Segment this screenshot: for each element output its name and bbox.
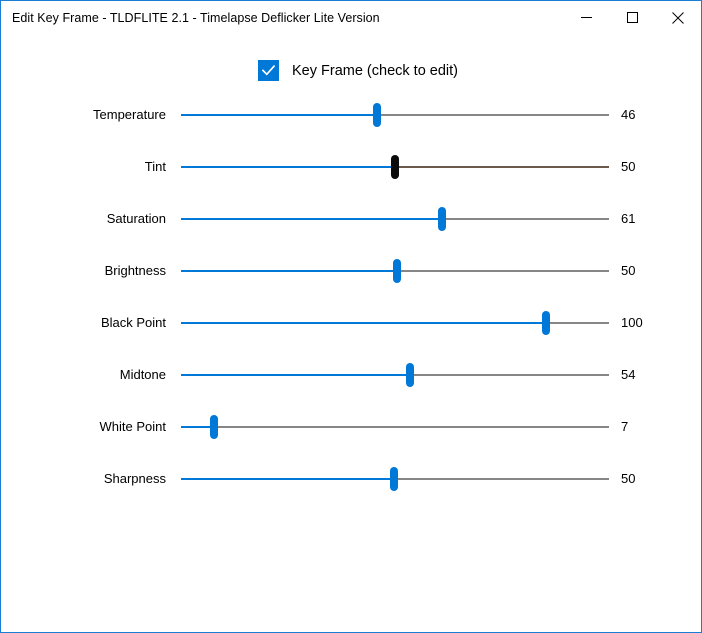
caption-button-group [563, 1, 701, 34]
close-button[interactable] [655, 1, 701, 34]
slider-track-fill [181, 114, 377, 116]
slider-track-fill [181, 374, 410, 376]
window-title: Edit Key Frame - TLDFLITE 2.1 - Timelaps… [1, 11, 380, 25]
slider-value: 100 [621, 308, 643, 338]
slider-value: 54 [621, 360, 635, 390]
maximize-icon [627, 12, 638, 23]
slider-thumb[interactable] [390, 467, 398, 491]
client-area: Key Frame (check to edit) Temperature46T… [1, 34, 701, 632]
slider-track-fill [181, 478, 394, 480]
minimize-icon [581, 12, 592, 23]
slider-track-fill [181, 270, 397, 272]
slider-track-fill [181, 322, 546, 324]
slider-row[interactable]: White Point7 [1, 412, 701, 442]
slider-track-fill [181, 166, 395, 168]
slider-thumb[interactable] [542, 311, 550, 335]
slider-track-fill [181, 218, 442, 220]
slider-value: 50 [621, 152, 635, 182]
slider-black-point[interactable] [181, 308, 609, 338]
slider-row[interactable]: Midtone54 [1, 360, 701, 390]
slider-label: Black Point [1, 308, 166, 338]
close-icon [672, 12, 684, 24]
slider-row[interactable]: Temperature46 [1, 100, 701, 130]
slider-brightness[interactable] [181, 256, 609, 286]
slider-value: 61 [621, 204, 635, 234]
slider-label: Brightness [1, 256, 166, 286]
slider-row[interactable]: Sharpness50 [1, 464, 701, 494]
maximize-button[interactable] [609, 1, 655, 34]
slider-row[interactable]: Tint50 [1, 152, 701, 182]
slider-label: Sharpness [1, 464, 166, 494]
slider-value: 46 [621, 100, 635, 130]
key-frame-checkbox[interactable] [258, 60, 279, 81]
slider-white-point[interactable] [181, 412, 609, 442]
slider-row[interactable]: Saturation61 [1, 204, 701, 234]
slider-label: Temperature [1, 100, 166, 130]
slider-row[interactable]: Black Point100 [1, 308, 701, 338]
slider-label: White Point [1, 412, 166, 442]
slider-label: Saturation [1, 204, 166, 234]
key-frame-checkbox-label: Key Frame (check to edit) [292, 63, 458, 79]
slider-thumb[interactable] [438, 207, 446, 231]
app-window: Edit Key Frame - TLDFLITE 2.1 - Timelaps… [0, 0, 702, 633]
slider-value: 50 [621, 256, 635, 286]
slider-saturation[interactable] [181, 204, 609, 234]
slider-midtone[interactable] [181, 360, 609, 390]
slider-row[interactable]: Brightness50 [1, 256, 701, 286]
key-frame-checkbox-row[interactable]: Key Frame (check to edit) [258, 60, 458, 81]
slider-thumb[interactable] [210, 415, 218, 439]
slider-value: 7 [621, 412, 628, 442]
slider-thumb[interactable] [393, 259, 401, 283]
slider-label: Tint [1, 152, 166, 182]
title-bar[interactable]: Edit Key Frame - TLDFLITE 2.1 - Timelaps… [1, 1, 701, 34]
slider-track[interactable] [181, 426, 609, 428]
slider-thumb[interactable] [391, 155, 399, 179]
slider-label: Midtone [1, 360, 166, 390]
slider-value: 50 [621, 464, 635, 494]
slider-sharpness[interactable] [181, 464, 609, 494]
slider-tint[interactable] [181, 152, 609, 182]
slider-thumb[interactable] [406, 363, 414, 387]
slider-temperature[interactable] [181, 100, 609, 130]
minimize-button[interactable] [563, 1, 609, 34]
slider-thumb[interactable] [373, 103, 381, 127]
